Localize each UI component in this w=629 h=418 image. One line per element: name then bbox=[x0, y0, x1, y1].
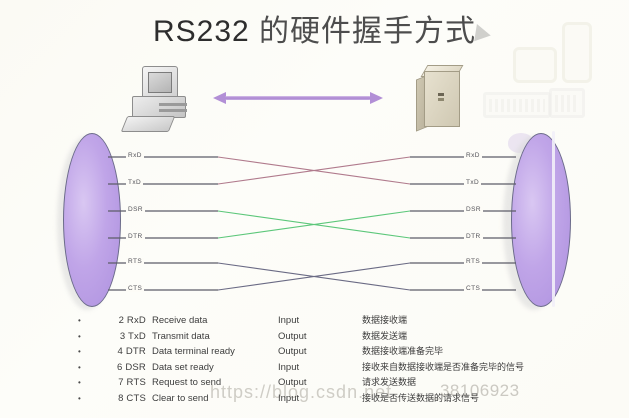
table-row: • 4 DTR Data terminal ready Output 数据接收端… bbox=[78, 344, 618, 360]
wire-label-left-dtr: DTR bbox=[126, 233, 145, 240]
pin-description: Receive data bbox=[152, 315, 278, 326]
table-row: • 3 TxD Transmit data Output 数据发送端 bbox=[78, 329, 618, 345]
wire-label-left-rxd: RxD bbox=[126, 152, 144, 159]
wire-label-right-cts: CTS bbox=[464, 285, 482, 292]
pin-chinese: 请求发送数据 bbox=[362, 375, 416, 388]
wire-label-left-rts: RTS bbox=[126, 258, 144, 265]
pin-number: 7 RTS bbox=[100, 377, 152, 388]
pin-number: 6 DSR bbox=[100, 362, 152, 373]
pin-description: Data set ready bbox=[152, 362, 278, 373]
wire-txd-left-to-rxd-right bbox=[108, 157, 516, 184]
wire-pair-rxd-txd bbox=[108, 157, 516, 184]
table-row: • 7 RTS Request to send Output 请求发送数据 bbox=[78, 375, 618, 391]
pin-chinese: 接收来自数据接收端是否准备完毕的信号 bbox=[362, 360, 524, 373]
pin-number: 3 TxD bbox=[100, 331, 152, 342]
pin-chinese: 数据接收端 bbox=[362, 313, 407, 326]
bullet-icon: • bbox=[78, 378, 100, 387]
wire-cts-left-to-rts-right bbox=[108, 263, 516, 290]
pin-direction: Input bbox=[278, 315, 362, 326]
pin-number: 8 CTS bbox=[100, 393, 152, 404]
pin-number: 4 DTR bbox=[100, 346, 152, 357]
wire-label-right-txd: TxD bbox=[464, 179, 481, 186]
pin-description: Transmit data bbox=[152, 331, 278, 342]
pin-number: 2 RxD bbox=[100, 315, 152, 326]
wire-dtr-left-to-dsr-right bbox=[108, 211, 516, 238]
table-row: • 2 RxD Receive data Input 数据接收端 bbox=[78, 313, 618, 329]
pin-direction: Output bbox=[278, 331, 362, 342]
wire-label-left-cts: CTS bbox=[126, 285, 144, 292]
wire-label-left-dsr: DSR bbox=[126, 206, 145, 213]
bullet-icon: • bbox=[78, 347, 100, 356]
wire-label-left-txd: TxD bbox=[126, 179, 143, 186]
pin-description: Data terminal ready bbox=[152, 346, 278, 357]
pin-chinese: 数据接收端准备完毕 bbox=[362, 344, 443, 357]
pin-legend-table: • 2 RxD Receive data Input 数据接收端 • 3 TxD… bbox=[78, 313, 618, 406]
pin-direction: Output bbox=[278, 377, 362, 388]
pin-chinese: 数据发送端 bbox=[362, 329, 407, 342]
table-row: • 6 DSR Data set ready Input 接收来自数据接收端是否… bbox=[78, 360, 618, 376]
pin-description: Request to send bbox=[152, 377, 278, 388]
pin-direction: Output bbox=[278, 346, 362, 357]
wire-pair-rts-cts bbox=[108, 263, 516, 290]
wire-label-right-dtr: DTR bbox=[464, 233, 483, 240]
bullet-icon: • bbox=[78, 394, 100, 403]
pin-chinese: 接收是否传送数据的请求信号 bbox=[362, 391, 479, 404]
table-row: • 8 CTS Clear to send Input 接收是否传送数据的请求信… bbox=[78, 391, 618, 407]
bullet-icon: • bbox=[78, 332, 100, 341]
wire-label-right-rxd: RxD bbox=[464, 152, 482, 159]
pin-direction: Input bbox=[278, 362, 362, 373]
bullet-icon: • bbox=[78, 316, 100, 325]
bullet-icon: • bbox=[78, 363, 100, 372]
wire-label-right-rts: RTS bbox=[464, 258, 482, 265]
slide-canvas: RS232 的硬件握手方式 bbox=[0, 0, 629, 418]
pin-direction: Input bbox=[278, 393, 362, 404]
wire-pair-dsr-dtr bbox=[108, 211, 516, 238]
pin-description: Clear to send bbox=[152, 393, 278, 404]
wire-label-right-dsr: DSR bbox=[464, 206, 483, 213]
